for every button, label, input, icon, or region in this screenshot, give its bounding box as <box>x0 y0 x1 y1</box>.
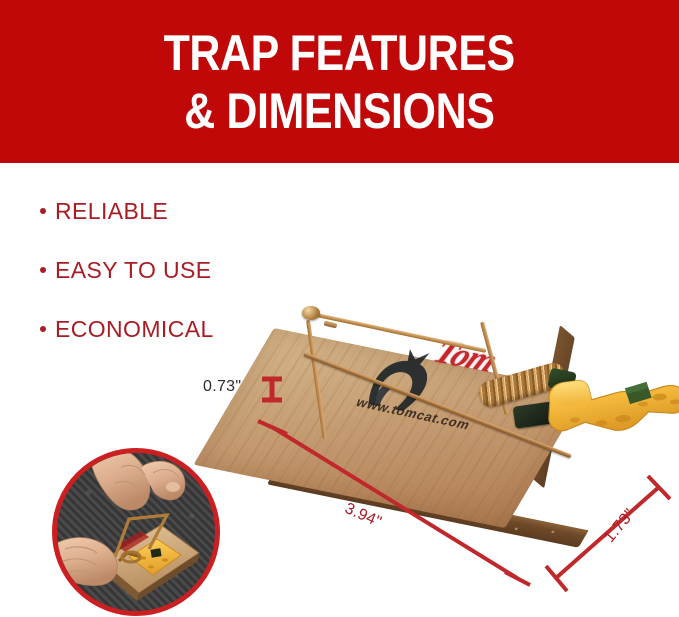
header-title-block: TRAP FEATURES & DIMENSIONS <box>0 0 679 163</box>
feature-label-economical: ECONOMICAL <box>55 316 214 343</box>
feature-label-easy-to-use: EASY TO USE <box>55 257 212 284</box>
trap-staple <box>324 321 338 329</box>
infographic-page: TRAP FEATURES & DIMENSIONS RELIABLE EASY… <box>0 0 679 617</box>
bullet-dot-icon <box>40 208 46 214</box>
header-banner: TRAP FEATURES & DIMENSIONS <box>0 0 679 163</box>
hands-setting-trap-illustration <box>57 453 215 611</box>
list-item: RELIABLE <box>40 196 300 226</box>
page-title-line-2: & DIMENSIONS <box>184 86 494 136</box>
bullet-dot-icon <box>40 326 46 332</box>
trap-hinge-knob <box>302 306 320 320</box>
inset-photo-setting-trap <box>52 448 220 616</box>
inset-photo-content <box>57 453 215 611</box>
list-item: EASY TO USE <box>40 255 300 285</box>
bullet-dot-icon <box>40 267 46 273</box>
page-title-line-1: TRAP FEATURES <box>164 28 515 78</box>
cheese-pedal-icon <box>541 357 679 451</box>
dimension-label-height: 0.73" <box>203 378 241 396</box>
list-item: ECONOMICAL <box>40 314 300 344</box>
feature-label-reliable: RELIABLE <box>55 198 168 225</box>
feature-list: RELIABLE EASY TO USE ECONOMICAL <box>40 196 300 373</box>
